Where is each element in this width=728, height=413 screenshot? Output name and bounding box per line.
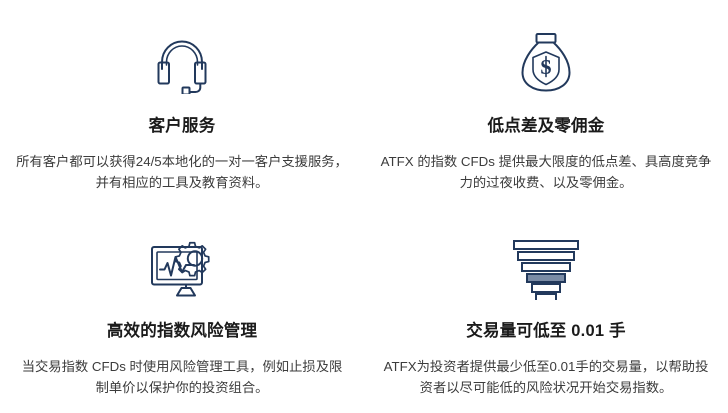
feature-card-customer-service: 客户服务 所有客户都可以获得24/5本地化的一对一客户支援服务，并有相应的工具及… xyxy=(0,0,364,206)
feature-description: 当交易指数 CFDs 时使用风险管理工具，例如止损及限制单价以保护你的投资组合。 xyxy=(16,356,348,399)
feature-card-low-spread: S 低点差及零佣金 ATFX 的指数 CFDs 提供最大限度的低点差、具高度竞争… xyxy=(364,0,728,206)
feature-title: 交易量可低至 0.01 手 xyxy=(466,322,625,342)
feature-title: 客户服务 xyxy=(149,117,216,137)
monitor-gear-chart-icon xyxy=(149,234,215,304)
feature-card-risk-management: 高效的指数风险管理 当交易指数 CFDs 时使用风险管理工具，例如止损及限制单价… xyxy=(0,206,364,413)
feature-description: ATFX为投资者提供最少低至0.01手的交易量，以帮助投资者以尽可能低的风险状况… xyxy=(380,356,712,399)
feature-description: 所有客户都可以获得24/5本地化的一对一客户支援服务，并有相应的工具及教育资料。 xyxy=(16,151,348,194)
headset-icon xyxy=(150,28,214,98)
features-grid: 客户服务 所有客户都可以获得24/5本地化的一对一客户支援服务，并有相应的工具及… xyxy=(0,0,728,413)
funnel-bars-icon xyxy=(510,234,582,304)
feature-title: 低点差及零佣金 xyxy=(488,117,605,137)
money-bag-shield-icon: S xyxy=(514,28,578,98)
feature-description: ATFX 的指数 CFDs 提供最大限度的低点差、具高度竞争力的过夜收费、以及零… xyxy=(380,151,712,194)
feature-card-min-lot-size: 交易量可低至 0.01 手 ATFX为投资者提供最少低至0.01手的交易量，以帮… xyxy=(364,206,728,413)
feature-title: 高效的指数风险管理 xyxy=(107,322,257,342)
